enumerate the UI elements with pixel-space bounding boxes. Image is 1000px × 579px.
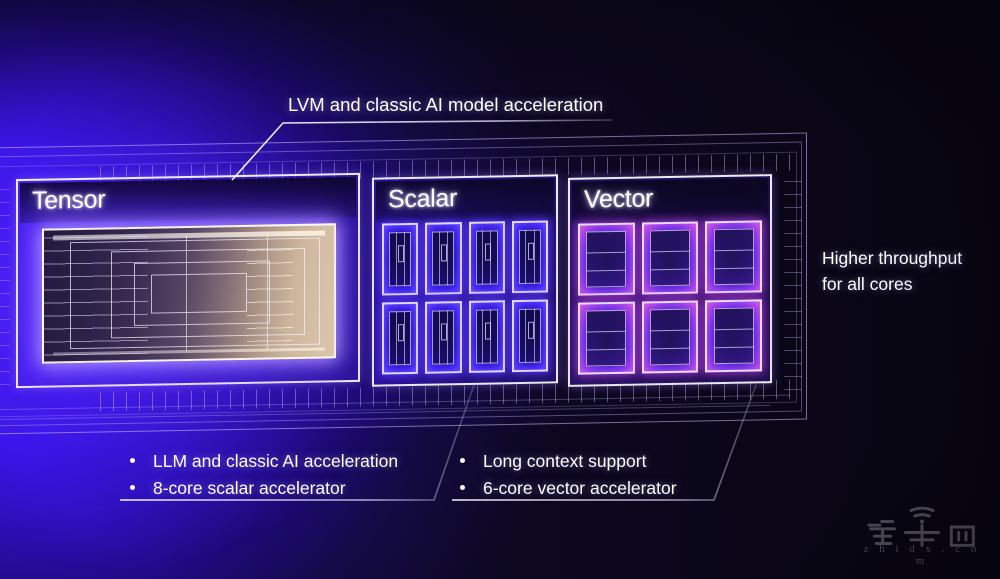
vignette-overlay bbox=[0, 0, 1000, 579]
presentation-slide: Tensor Scalar bbox=[0, 0, 1000, 579]
